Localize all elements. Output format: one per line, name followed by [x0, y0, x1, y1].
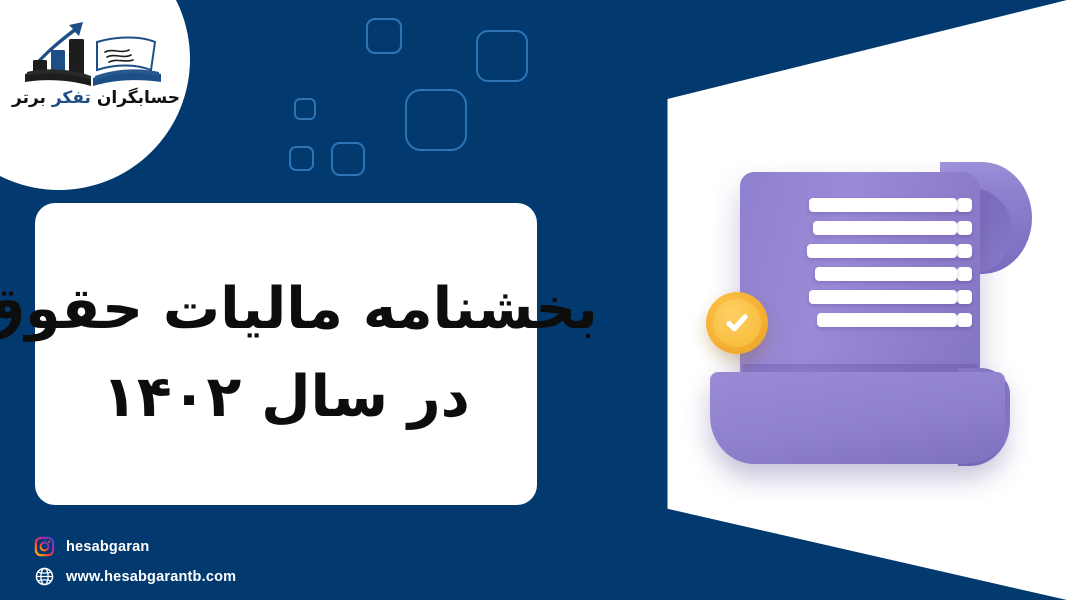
- footer-links: hesabgaran www.hesabgarantb.com: [34, 536, 236, 587]
- instagram-handle[interactable]: hesabgaran: [66, 539, 149, 555]
- scroll-bottom-roll: [710, 372, 1005, 464]
- checklist-bar: [809, 198, 957, 212]
- checklist-bar: [817, 313, 957, 327]
- instagram-link[interactable]: hesabgaran: [34, 536, 236, 557]
- checklist-bar: [813, 221, 957, 235]
- checklist-bar: [807, 244, 957, 258]
- checklist-bullet-icon: [957, 313, 972, 327]
- logo-text-middle: تفکر: [52, 88, 91, 108]
- poster-canvas: حسابگران تفکر برتر بخشنامه مالیات حقوق د…: [0, 0, 1067, 600]
- checklist-bullet-icon: [957, 290, 972, 304]
- page-title-line-1: بخشنامه مالیات حقوق: [0, 280, 598, 340]
- website-link[interactable]: www.hesabgarantb.com: [34, 566, 236, 587]
- checklist-row: [762, 267, 972, 281]
- logo-content: حسابگران تفکر برتر: [8, 20, 184, 140]
- deco-square-6: [331, 142, 365, 176]
- checklist-bullet-icon: [957, 221, 972, 235]
- check-mark-icon: [713, 299, 761, 347]
- page-title-line-2: در سال ۱۴۰۲: [102, 368, 470, 428]
- logo-text-right: حسابگران: [97, 88, 180, 108]
- purple-checklist-scroll-illustration: [700, 140, 1040, 470]
- globe-icon[interactable]: [34, 566, 55, 587]
- logo-text: حسابگران تفکر برتر: [12, 88, 180, 108]
- website-url[interactable]: www.hesabgarantb.com: [66, 569, 236, 585]
- deco-square-1: [366, 18, 402, 54]
- check-mark-badge: [706, 292, 768, 354]
- checklist-bullet-icon: [957, 198, 972, 212]
- checklist-row: [762, 221, 972, 235]
- checklist-bullet-icon: [957, 267, 972, 281]
- deco-square-5: [289, 146, 314, 171]
- checklist-row: [762, 198, 972, 212]
- checklist-bar: [815, 267, 957, 281]
- checklist-bullet-icon: [957, 244, 972, 258]
- instagram-icon[interactable]: [34, 536, 55, 557]
- checklist-row: [762, 290, 972, 304]
- checklist-row: [762, 244, 972, 258]
- title-card: بخشنامه مالیات حقوق در سال ۱۴۰۲: [35, 203, 537, 505]
- deco-square-4: [405, 89, 467, 151]
- checklist-bar: [809, 290, 957, 304]
- deco-square-2: [476, 30, 528, 82]
- logo-text-left: برتر: [12, 88, 46, 108]
- checklist-row: [762, 313, 972, 327]
- deco-square-3: [294, 98, 316, 120]
- checklist-rows: [762, 198, 972, 336]
- bar-chart-book-logo-icon: [21, 20, 171, 86]
